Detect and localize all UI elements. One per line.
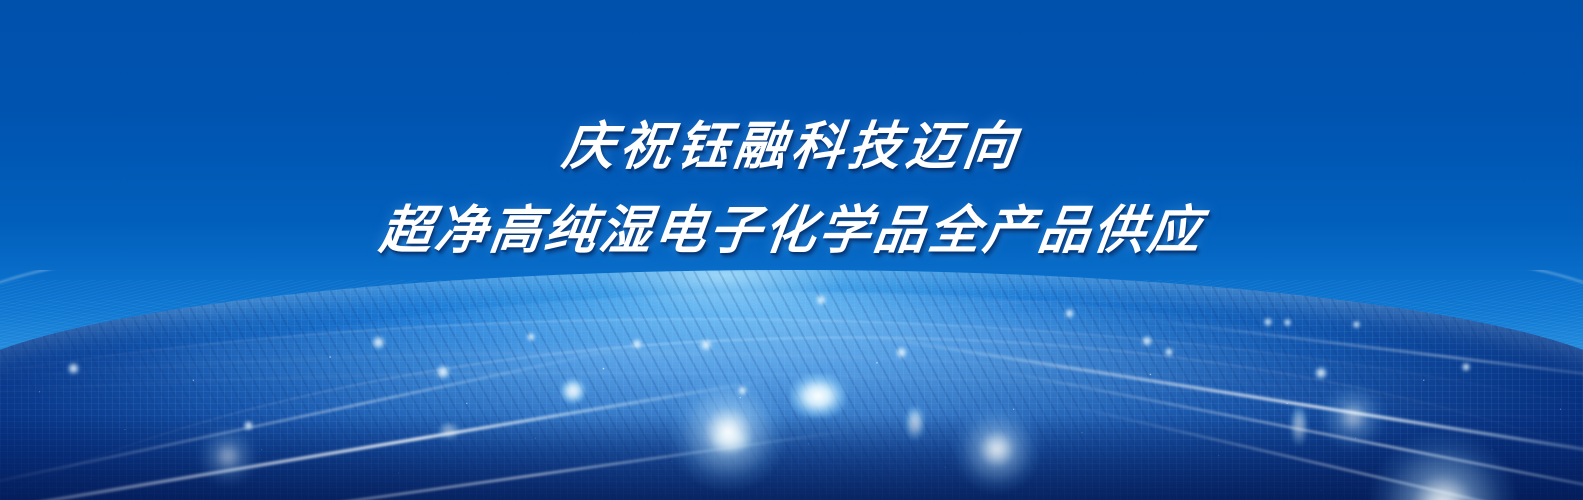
city-vignette xyxy=(0,270,1583,500)
bokeh-dot-icon xyxy=(895,346,908,359)
bokeh-dot-icon xyxy=(526,332,536,342)
lens-flare-icon xyxy=(1318,382,1388,452)
glowing-landmark-icon xyxy=(438,422,460,440)
city-block-texture xyxy=(0,270,1583,500)
bokeh-dot-icon xyxy=(1141,335,1153,347)
light-streak xyxy=(967,364,1583,500)
glowing-landmark-icon xyxy=(790,374,846,418)
light-arc xyxy=(0,372,1583,500)
light-streak xyxy=(1048,400,1583,500)
bokeh-dot-icon xyxy=(1263,317,1273,327)
light-arc xyxy=(0,352,1583,500)
sky-gradient-overlay xyxy=(0,0,1583,300)
headline-line-1: 庆祝钰融科技迈向 xyxy=(0,116,1583,178)
lens-flare-icon xyxy=(1368,430,1518,500)
bokeh-dot-icon xyxy=(371,335,386,350)
hatch-texture xyxy=(0,280,1583,500)
bokeh-dot-icon xyxy=(435,364,451,380)
light-arc xyxy=(60,300,1583,500)
light-streak xyxy=(865,334,1583,465)
bokeh-dot-icon xyxy=(1461,362,1471,372)
glowing-landmark-icon xyxy=(560,378,586,404)
light-streak xyxy=(0,378,774,500)
light-arc xyxy=(0,336,1583,500)
glowing-landmark-icon xyxy=(905,406,925,440)
city-foreground-shade xyxy=(0,414,1583,500)
glowing-landmark-icon xyxy=(712,430,752,452)
bokeh-dot-icon xyxy=(1283,318,1292,327)
lens-flare-icon xyxy=(668,372,788,492)
light-ribbon-band xyxy=(0,300,1583,500)
light-arc xyxy=(0,292,1583,500)
hatch-texture xyxy=(0,300,1583,500)
bokeh-dot-icon xyxy=(699,338,713,352)
city-lights-speckle xyxy=(0,270,1583,500)
bokeh-dot-icon xyxy=(1352,320,1361,329)
bokeh-dot-icon xyxy=(737,385,748,396)
light-ribbon-band xyxy=(0,346,1583,500)
horizon-glow xyxy=(0,270,1583,330)
bokeh-dot-icon xyxy=(1064,308,1075,319)
light-ribbon-band xyxy=(0,318,1583,500)
glowing-landmark-icon xyxy=(1290,406,1308,446)
light-streak xyxy=(44,429,856,500)
cityscape xyxy=(0,270,1583,500)
lens-flare-icon xyxy=(952,404,1042,494)
lens-flare-icon xyxy=(196,424,260,488)
banner-headline: 庆祝钰融科技迈向 超净高纯湿电子化学品全产品供应 xyxy=(0,116,1583,262)
bokeh-dot-icon xyxy=(815,294,827,306)
bokeh-dot-icon xyxy=(631,338,643,350)
bokeh-dot-icon xyxy=(1164,347,1174,357)
light-arc xyxy=(0,318,1583,500)
headline-line-2: 超净高纯湿电子化学品全产品供应 xyxy=(0,200,1583,262)
light-streak xyxy=(0,345,633,492)
light-streak xyxy=(1122,316,1583,386)
bokeh-dot-icon xyxy=(1314,366,1328,380)
hero-banner: 庆祝钰融科技迈向 超净高纯湿电子化学品全产品供应 xyxy=(0,0,1583,500)
city-surface xyxy=(0,270,1583,500)
bokeh-dot-icon xyxy=(67,362,80,375)
bokeh-dot-icon xyxy=(243,420,254,431)
